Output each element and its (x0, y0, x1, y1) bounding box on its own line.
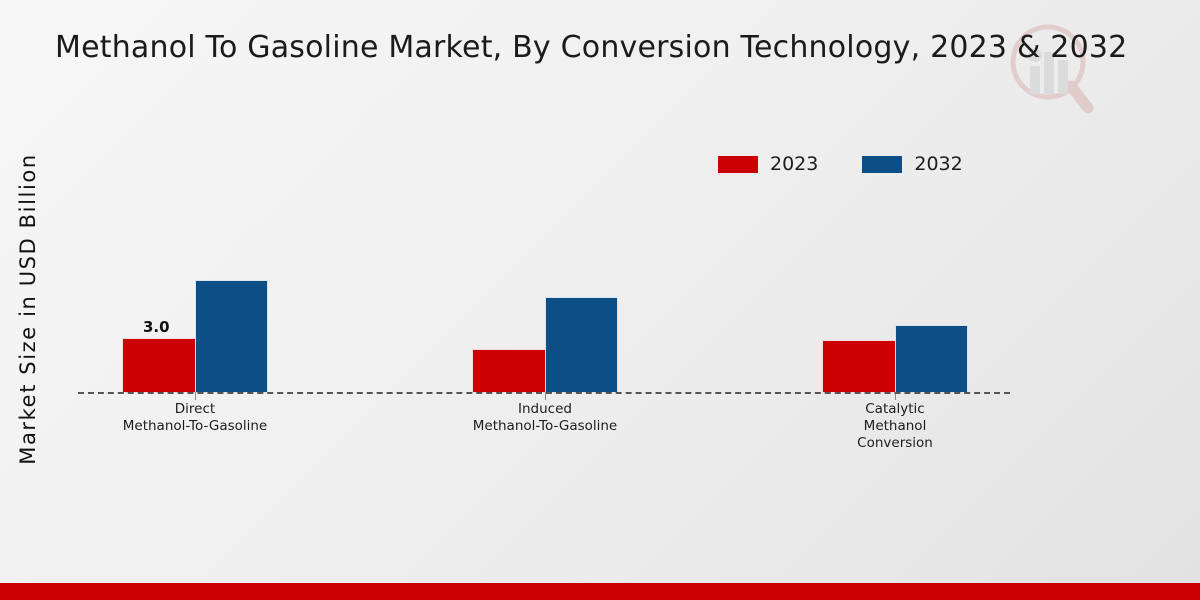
plot-area: 3.0 Direct Methanol-To-Gasoline Induced … (0, 0, 1200, 600)
bar-2032-induced-methanol-to-gasoline[interactable] (545, 297, 618, 393)
chart-canvas: Methanol To Gasoline Market, By Conversi… (0, 0, 1200, 600)
x-axis-label-catalytic-methanol-conversion: Catalytic Methanol Conversion (795, 401, 995, 452)
bar-2023-induced-methanol-to-gasoline[interactable] (472, 349, 546, 393)
x-axis-label-induced-methanol-to-gasoline: Induced Methanol-To-Gasoline (445, 401, 645, 435)
bar-value-label-direct-2023: 3.0 (143, 318, 170, 336)
footer-accent-band (0, 583, 1200, 600)
x-axis-baseline (78, 392, 1010, 394)
bar-2023-catalytic-methanol-conversion[interactable] (822, 340, 896, 393)
x-axis-label-direct-methanol-to-gasoline: Direct Methanol-To-Gasoline (95, 401, 295, 435)
bar-2032-direct-methanol-to-gasoline[interactable] (195, 280, 268, 393)
bar-2023-direct-methanol-to-gasoline[interactable] (122, 338, 196, 393)
bar-2032-catalytic-methanol-conversion[interactable] (895, 325, 968, 393)
